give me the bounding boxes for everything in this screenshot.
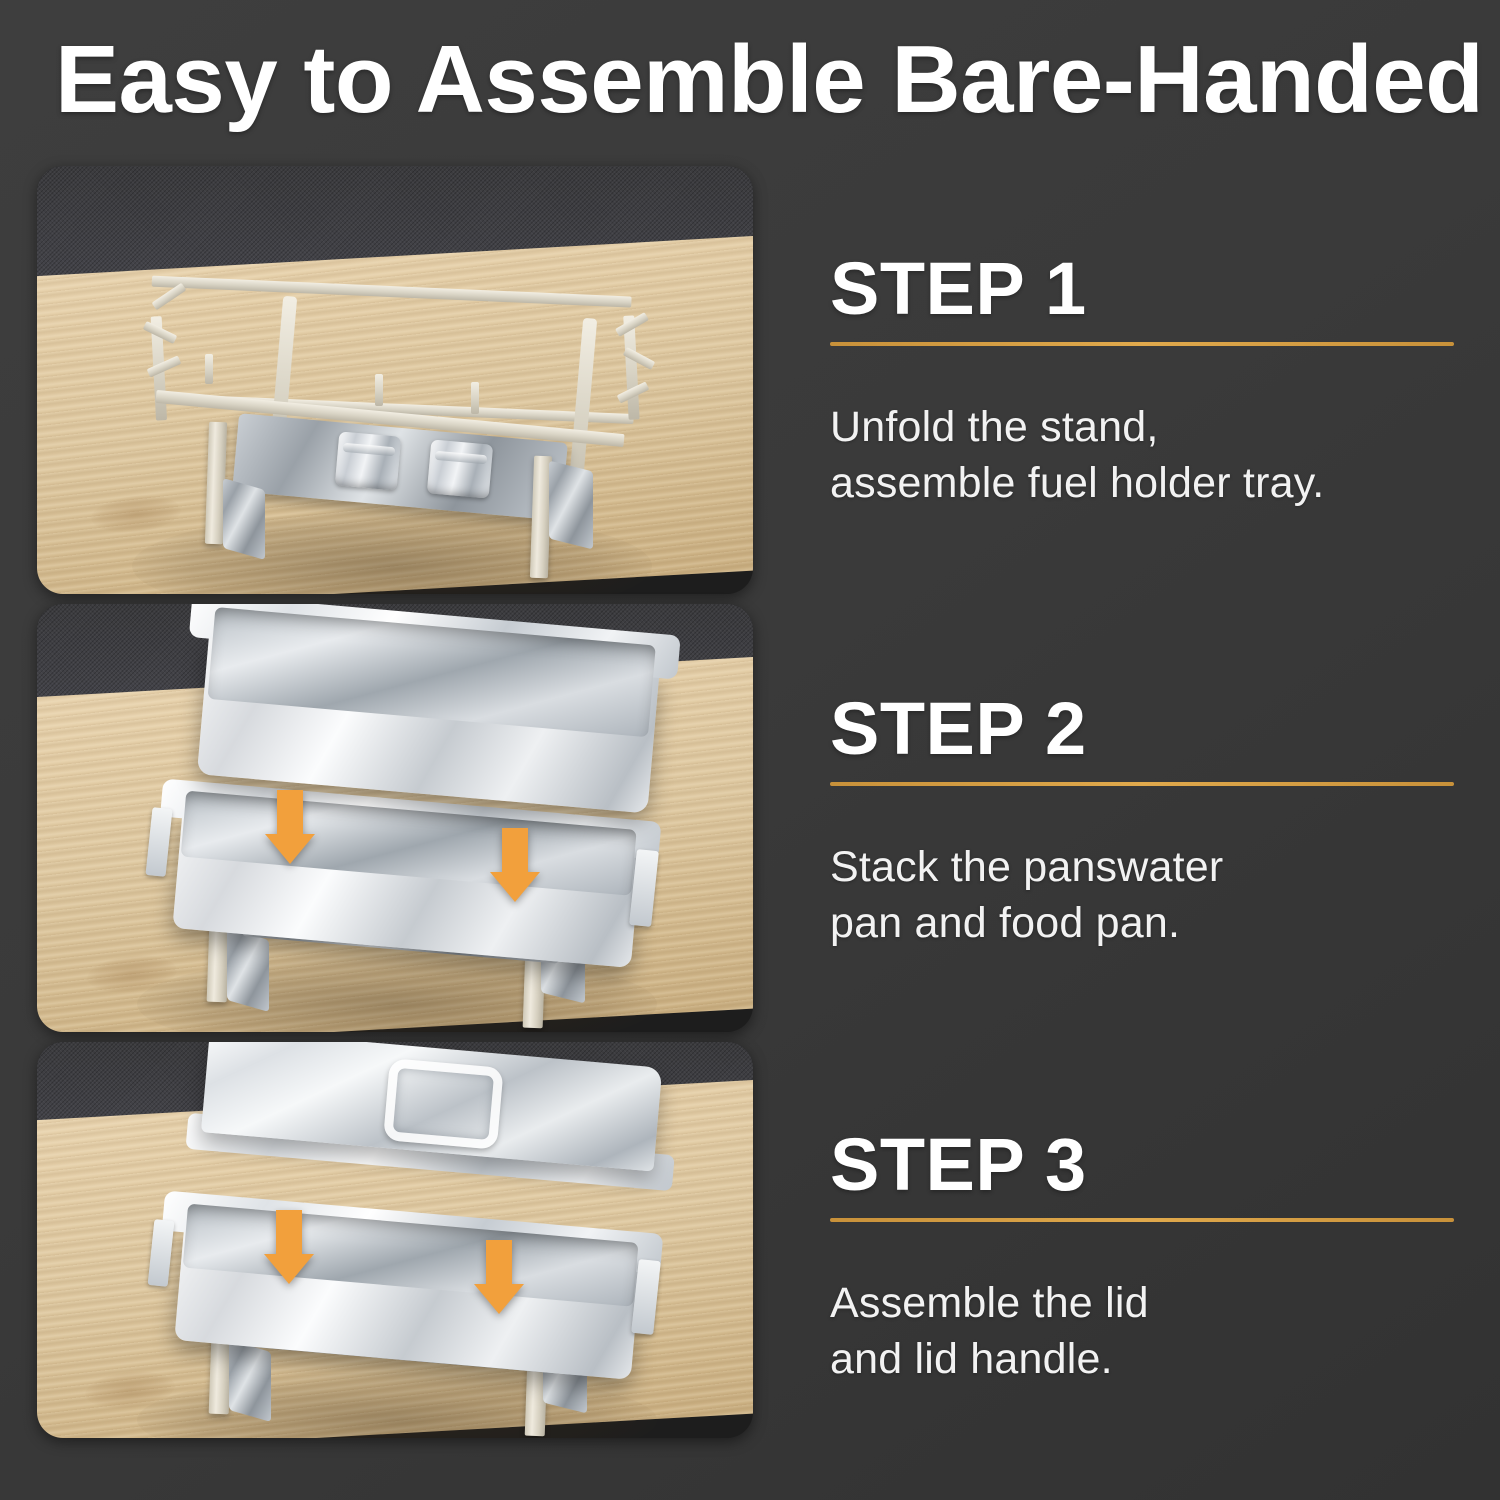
step-3-description: Assemble the lid and lid handle. [830, 1276, 1456, 1388]
step-1-heading: STEP 1 [830, 252, 1456, 326]
fuel-can-2 [427, 439, 493, 498]
arrow-shaft [276, 1210, 302, 1256]
frame-peg-1 [205, 354, 213, 384]
step-3-text-block: STEP 3 Assemble the lid and lid handle. [830, 1128, 1456, 1388]
step-1-description: Unfold the stand, assemble fuel holder t… [830, 400, 1456, 512]
frame-peg-2 [375, 374, 383, 406]
arrow-shaft [486, 1240, 512, 1286]
arrow-head [474, 1284, 524, 1314]
step-1-rule [830, 342, 1454, 346]
step-2-rule [830, 782, 1454, 786]
stand-foot-bracket-left [223, 478, 265, 560]
scene-assemble-lid [37, 1042, 753, 1438]
arrow-head [490, 872, 540, 902]
page-title: Easy to Assemble Bare-Handed [55, 26, 1465, 134]
stand-foot-bracket-right [549, 461, 593, 550]
step-2-image-panel [37, 604, 753, 1032]
step-2-text-block: STEP 2 Stack the panswater pan and food … [830, 692, 1456, 952]
lid-handle-icon [383, 1058, 504, 1150]
frame-peg-3 [471, 382, 479, 414]
step-2-heading: STEP 2 [830, 692, 1456, 766]
arrow-shaft [502, 828, 528, 874]
scene-stand-unfolded [37, 166, 753, 594]
step-3-rule [830, 1218, 1454, 1222]
arrow-head [264, 1254, 314, 1284]
step-1-image-panel [37, 166, 753, 594]
step-3-heading: STEP 3 [830, 1128, 1456, 1202]
step-2-description: Stack the panswater pan and food pan. [830, 840, 1456, 952]
scene-stack-pans [37, 604, 753, 1032]
step-3-image-panel [37, 1042, 753, 1438]
step-1-text-block: STEP 1 Unfold the stand, assemble fuel h… [830, 252, 1456, 512]
arrow-shaft [277, 790, 303, 836]
fuel-can-1 [335, 431, 401, 490]
arrow-head [265, 834, 315, 864]
infographic-page: Easy to Assemble Bare-Handed [0, 0, 1500, 1500]
frame-scallop-right [609, 314, 669, 442]
